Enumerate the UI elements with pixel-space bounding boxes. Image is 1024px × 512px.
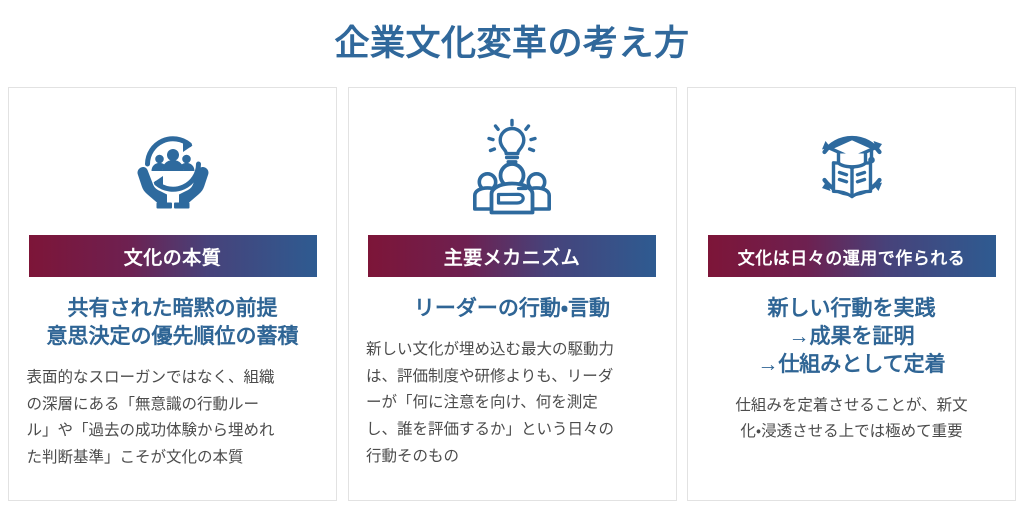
card-body: 新しい文化が埋め込む最大の駆動力 は、評価制度や研修よりも、リーダ ーが「何に注…: [366, 337, 658, 470]
card-row: 文化の本質 共有された暗黙の前提 意思決定の優先順位の蓄積 表面的なスローガンで…: [8, 87, 1016, 501]
page-title: 企業文化変革の考え方: [0, 22, 1024, 66]
card-heading-line: 新しい行動を実践: [705, 295, 999, 323]
infographic-page: 企業文化変革の考え方: [0, 0, 1024, 512]
card-body-line: し、誰を評価するか」という日々の: [366, 417, 658, 444]
card-daily-operation: 文化は日々の運用で作られる 新しい行動を実践 →成果を証明 →仕組みとして定着 …: [687, 87, 1016, 501]
card-body-line: 化・浸透させる上では極めて重要: [706, 419, 998, 446]
card-body: 表面的なスローガンではなく、組織 の深層にある「無意識の行動ルー ル」や「過去の…: [27, 365, 319, 472]
card-banner: 文化は日々の運用で作られる: [708, 235, 996, 277]
card-body-line: 行動そのもの: [366, 444, 658, 471]
card-body-line: ル」や「過去の成功体験から埋めれ: [27, 418, 319, 445]
card-body: 仕組みを定着させることが、新文 化・浸透させる上では極めて重要: [706, 393, 998, 446]
card-heading-line: →仕組みとして定着: [705, 351, 999, 379]
graduation-cap-book-cycle-icon: [800, 114, 904, 218]
card-body-line: 新しい文化が埋め込む最大の駆動力: [366, 337, 658, 364]
card-banner: 文化の本質: [29, 235, 317, 277]
card-culture-essence: 文化の本質 共有された暗黙の前提 意思決定の優先順位の蓄積 表面的なスローガンで…: [8, 87, 337, 501]
card-heading: 新しい行動を実践 →成果を証明 →仕組みとして定着: [705, 295, 999, 379]
card-body-line: の深層にある「無意識の行動ルー: [27, 392, 319, 419]
card-heading: 共有された暗黙の前提 意思決定の優先順位の蓄積: [26, 295, 320, 351]
card-key-mechanism: 主要メカニズム リーダーの行動・言動 新しい文化が埋め込む最大の駆動力 は、評価…: [348, 87, 677, 501]
hands-holding-people-cycle-icon: [121, 114, 225, 218]
card-body-line: 表面的なスローガンではなく、組織: [27, 365, 319, 392]
card-heading-line: リーダーの行動・言動: [365, 295, 659, 323]
card-heading: リーダーの行動・言動: [365, 295, 659, 323]
card-heading-line: →成果を証明: [705, 323, 999, 351]
card-heading-line: 共有された暗黙の前提: [26, 295, 320, 323]
card-heading-line: 意思決定の優先順位の蓄積: [26, 323, 320, 351]
lightbulb-team-leader-icon: [460, 114, 564, 218]
card-body-line: ーが「何に注意を向け、何を測定: [366, 390, 658, 417]
card-body-line: は、評価制度や研修よりも、リーダ: [366, 364, 658, 391]
card-body-line: た判断基準」こそが文化の本質: [27, 445, 319, 472]
card-banner: 主要メカニズム: [368, 235, 656, 277]
card-body-line: 仕組みを定着させることが、新文: [706, 393, 998, 420]
